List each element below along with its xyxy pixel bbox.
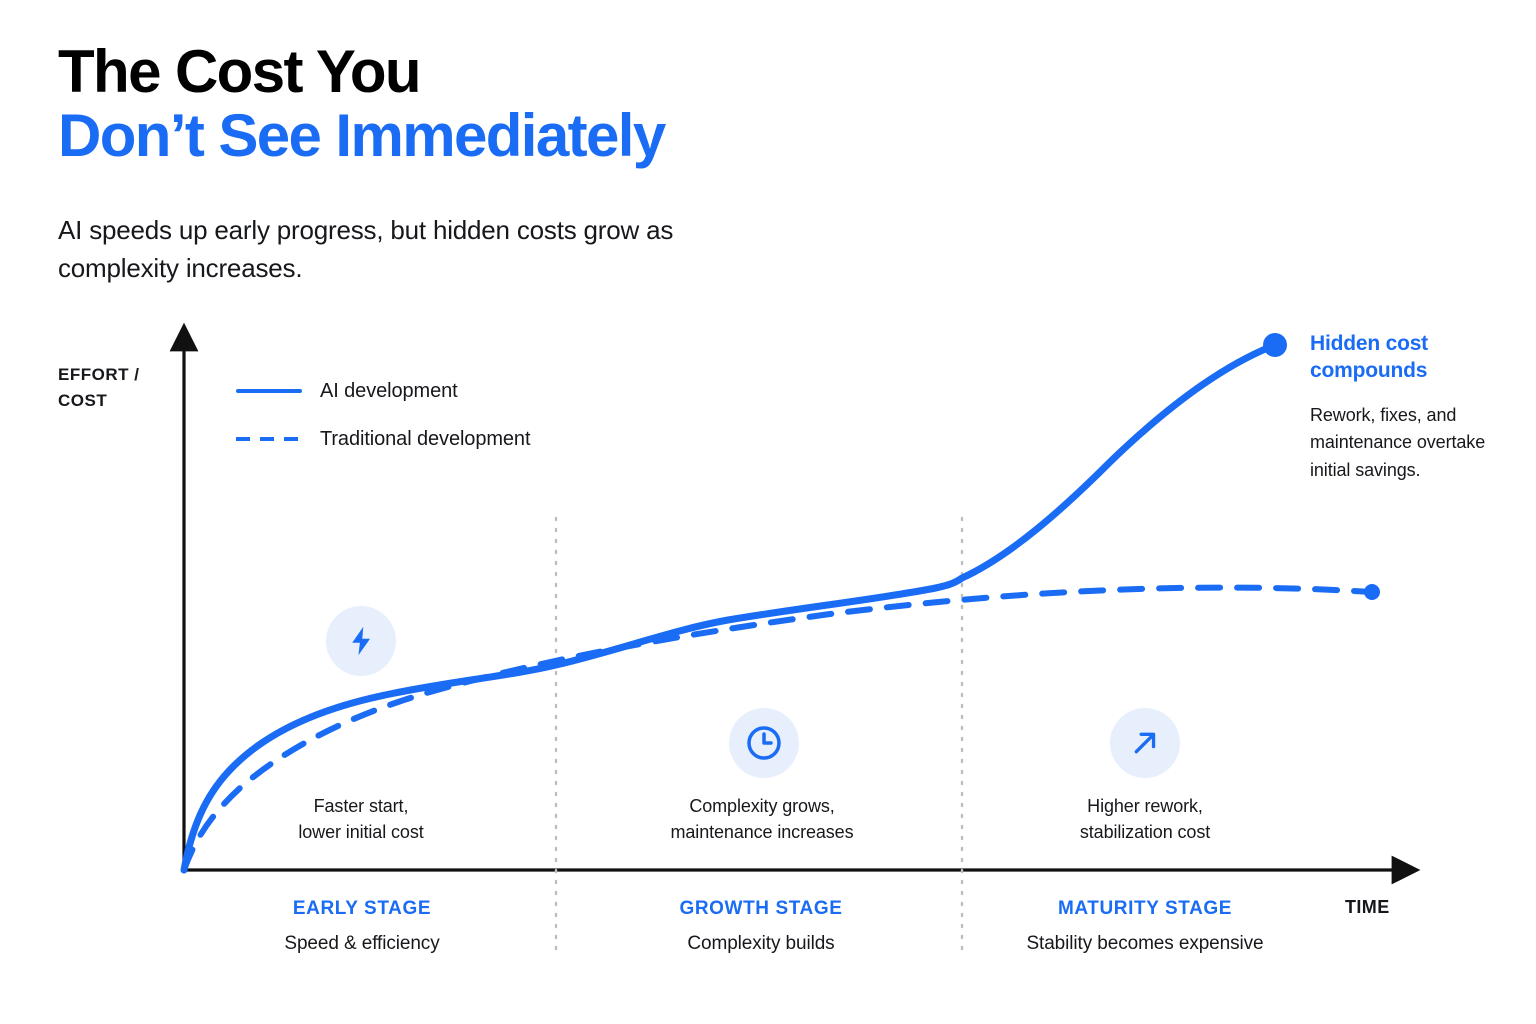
stage-footer-maturity: MATURITY STAGE Stability becomes expensi… xyxy=(995,898,1295,955)
stage-caption-maturity-line2: stabilization cost xyxy=(1015,819,1275,845)
stage-footer-early: EARLY STAGE Speed & efficiency xyxy=(212,898,512,955)
stage-footer-maturity-desc: Stability becomes expensive xyxy=(995,933,1295,955)
stage-footer-maturity-name: MATURITY STAGE xyxy=(995,898,1295,920)
stage-caption-early: Faster start, lower initial cost xyxy=(231,793,491,845)
stage-caption-growth-line2: maintenance increases xyxy=(632,819,892,845)
lightning-bolt-icon xyxy=(326,606,396,676)
clock-icon xyxy=(729,708,799,778)
chart-svg xyxy=(0,0,1536,1024)
stage-footer-growth-name: GROWTH STAGE xyxy=(611,898,911,920)
callout-hidden-cost: Hidden cost compounds Rework, fixes, and… xyxy=(1310,330,1495,485)
stage-footer-growth: GROWTH STAGE Complexity builds xyxy=(611,898,911,955)
callout-title-line2: compounds xyxy=(1310,357,1495,384)
stage-caption-early-line2: lower initial cost xyxy=(231,819,491,845)
stage-footer-early-name: EARLY STAGE xyxy=(212,898,512,920)
stage-caption-growth: Complexity grows, maintenance increases xyxy=(632,793,892,845)
infographic-page: The Cost You Don’t See Immediately AI sp… xyxy=(0,0,1536,1024)
callout-body: Rework, fixes, and maintenance overtake … xyxy=(1310,402,1495,486)
stage-caption-maturity: Higher rework, stabilization cost xyxy=(1015,793,1275,845)
endpoint-marker-ai-development xyxy=(1263,333,1287,357)
stage-caption-early-line1: Faster start, xyxy=(231,793,491,819)
callout-title-line1: Hidden cost xyxy=(1310,330,1495,357)
stage-footer-growth-desc: Complexity builds xyxy=(611,933,911,955)
stage-caption-growth-line1: Complexity grows, xyxy=(632,793,892,819)
callout-title: Hidden cost compounds xyxy=(1310,330,1495,385)
arrow-up-right-icon xyxy=(1110,708,1180,778)
stage-caption-maturity-line1: Higher rework, xyxy=(1015,793,1275,819)
stage-footer-early-desc: Speed & efficiency xyxy=(212,933,512,955)
endpoint-marker-traditional-development xyxy=(1364,584,1380,600)
chart-plot-area xyxy=(0,0,1536,1024)
